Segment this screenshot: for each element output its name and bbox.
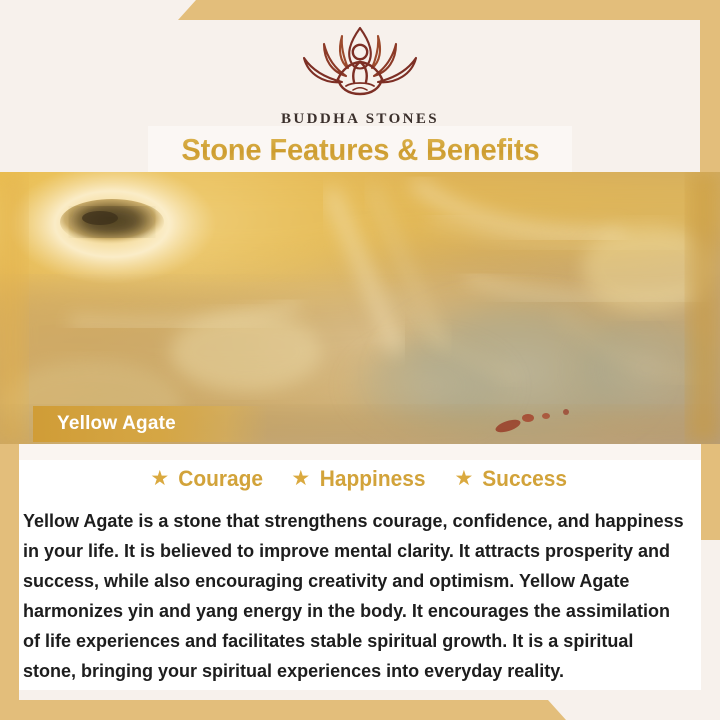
title-banner: Stone Features & Benefits	[148, 126, 572, 174]
poster-root: BUDDHA STONES Stone Features & Benefits	[0, 0, 720, 720]
page-title: Stone Features & Benefits	[181, 132, 539, 168]
star-icon: ★	[150, 468, 169, 489]
star-icon: ★	[455, 468, 474, 489]
benefit-label: Success	[483, 466, 568, 492]
photo-caption-band: Yellow Agate	[33, 406, 268, 442]
benefits-row: ★ Courage ★ Happiness ★ Success	[19, 466, 701, 492]
benefit-item-happiness: ★ Happiness	[291, 466, 428, 492]
brand-header: BUDDHA STONES	[0, 22, 720, 128]
benefit-item-success: ★ Success	[455, 466, 570, 492]
frame-bottom-gold-bar	[0, 700, 720, 720]
card-top-sheen	[19, 444, 701, 460]
star-icon: ★	[291, 468, 310, 489]
yellow-agate-stone-photo	[0, 172, 720, 444]
content-card: ★ Courage ★ Happiness ★ Success Yellow A…	[19, 444, 701, 690]
lotus-meditation-icon	[0, 22, 720, 105]
benefit-label: Happiness	[320, 466, 426, 492]
frame-top-gold-bar	[0, 0, 720, 20]
photo-caption-label: Yellow Agate	[33, 413, 176, 435]
benefit-item-courage: ★ Courage	[150, 466, 265, 492]
description-paragraph: Yellow Agate is a stone that strengthens…	[19, 506, 691, 686]
benefit-label: Courage	[178, 466, 263, 492]
